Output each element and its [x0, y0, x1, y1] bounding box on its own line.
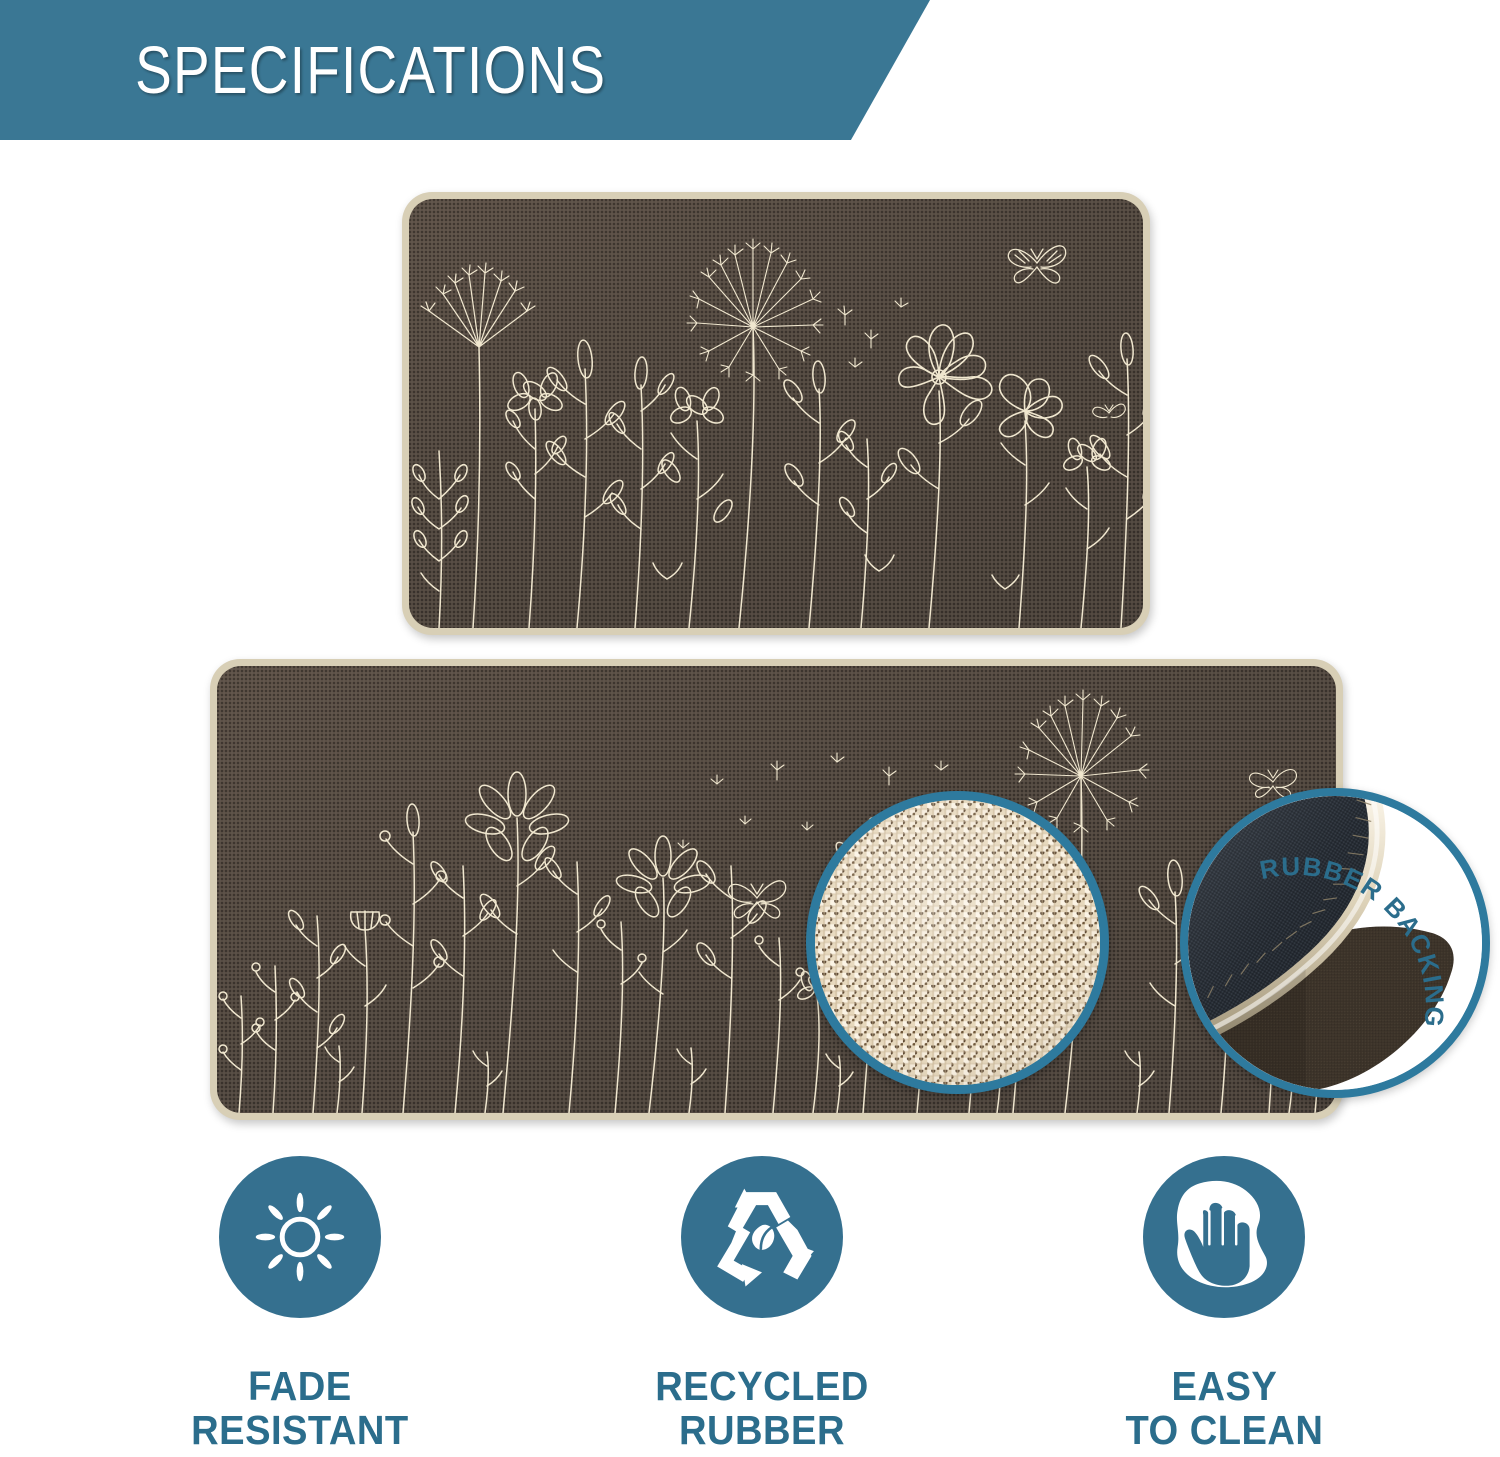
- recycle-icon-badge: [681, 1156, 843, 1318]
- burlap-weave-texture: [806, 791, 1109, 1094]
- feature-label-easy-to-clean: EASY TO CLEAN: [1125, 1364, 1323, 1453]
- hand-icon-badge: [1143, 1156, 1305, 1318]
- feature-easy-to-clean: EASY TO CLEAN: [1059, 1156, 1389, 1453]
- mat-face-runner: [217, 666, 1336, 1113]
- feature-fade-resistant: FADE RESISTANT: [135, 1156, 465, 1453]
- feature-label-recycled-rubber-backing: RECYCLED RUBBER BACKING: [609, 1364, 916, 1457]
- fabric-weave-callout: [806, 791, 1109, 1094]
- sun-icon-badge: [219, 1156, 381, 1318]
- hand-wipe-icon: [1163, 1176, 1285, 1298]
- specifications-infographic: SPECIFICATIONS: [0, 0, 1500, 1457]
- wildflower-pattern-runner: [217, 666, 1336, 1113]
- product-mat-runner: [210, 659, 1343, 1120]
- feature-recycled-rubber-backing: RECYCLED RUBBER BACKING: [597, 1156, 927, 1457]
- specifications-banner: [0, 0, 930, 140]
- wildflower-pattern-small: [409, 199, 1143, 628]
- rubber-backing-photo: [1188, 796, 1482, 1090]
- rubber-backing-callout: [1180, 788, 1490, 1098]
- feature-label-fade-resistant: FADE RESISTANT: [191, 1364, 408, 1453]
- mat-face-small: [409, 199, 1143, 628]
- sun-icon: [246, 1183, 354, 1291]
- product-mat-small: [402, 192, 1150, 635]
- recycle-leaf-icon: [703, 1178, 821, 1296]
- feature-list: FADE RESISTANT: [0, 1156, 1500, 1456]
